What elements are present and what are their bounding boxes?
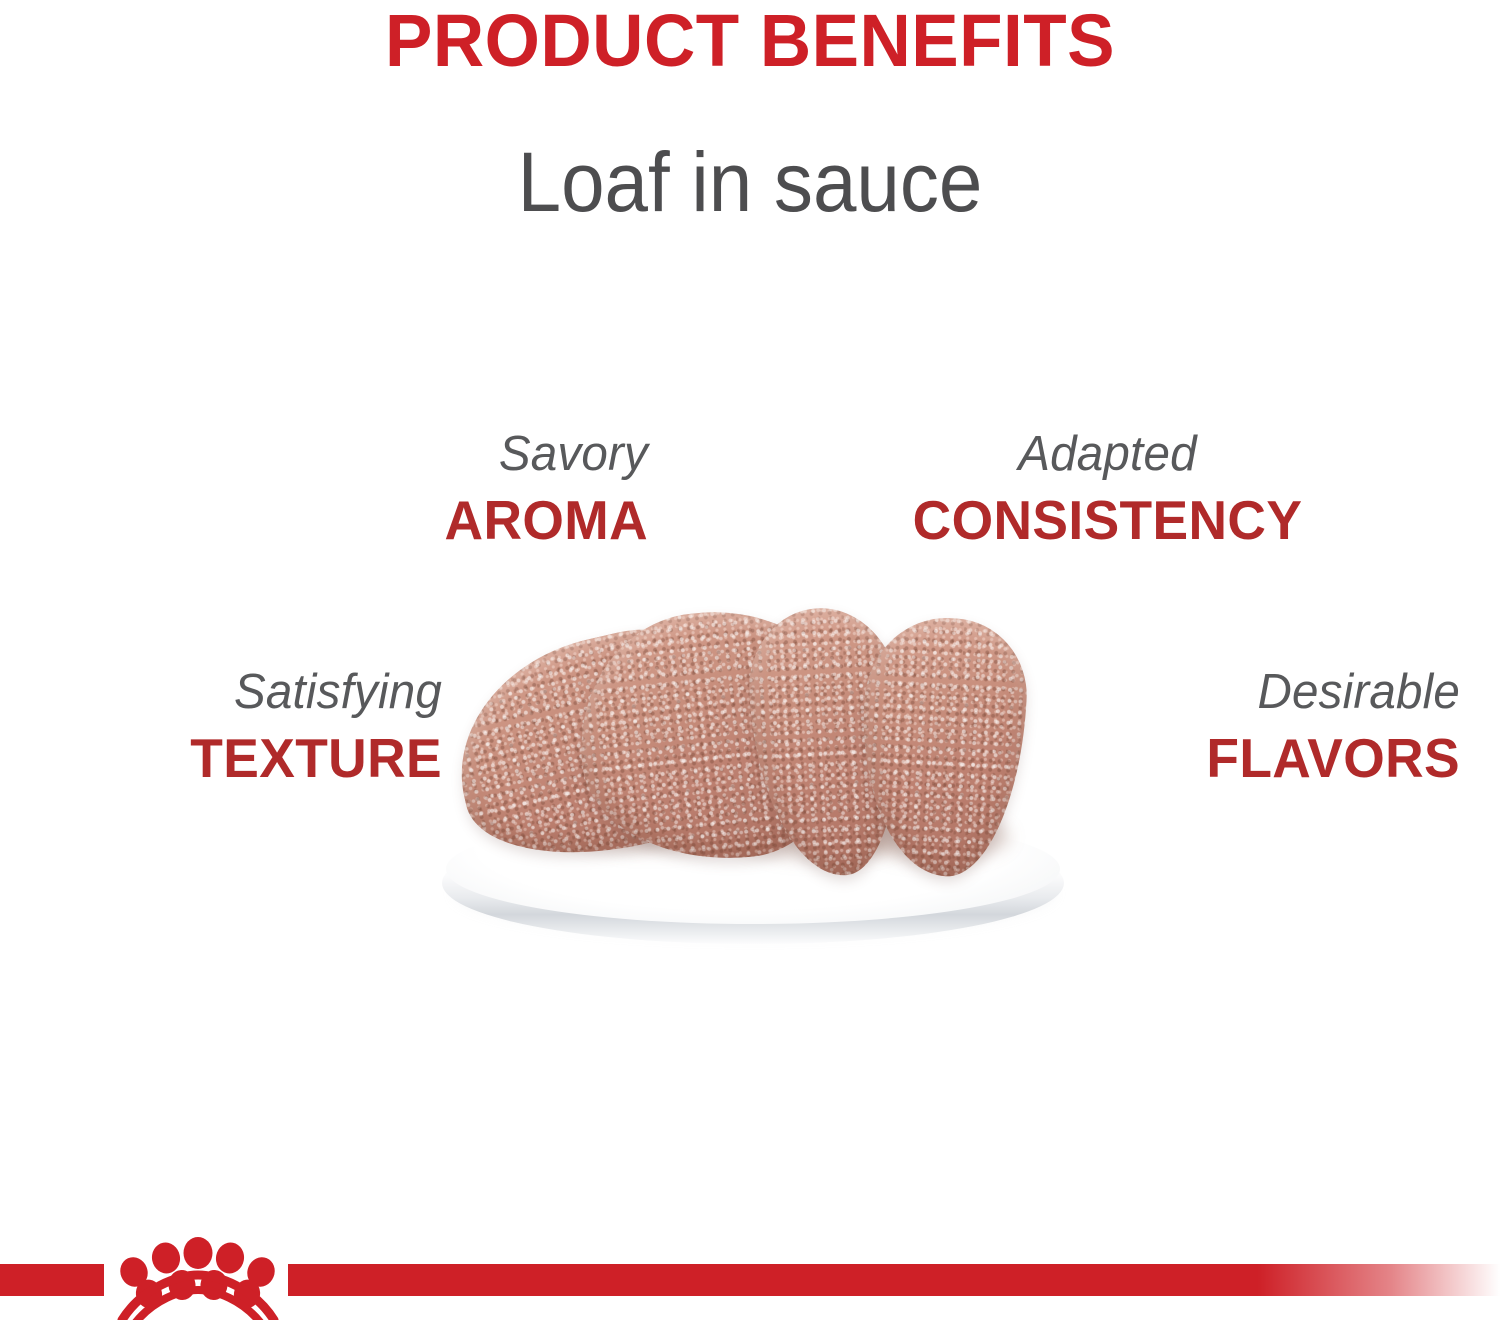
- benefit-aroma-adjective: Savory: [19, 430, 648, 479]
- footer-rule-left: [0, 1264, 104, 1296]
- benefit-texture-adjective: Satisfying: [13, 668, 442, 717]
- page-subtitle: Loaf in sauce: [53, 140, 1448, 224]
- benefit-flavors: Desirable FLAVORS: [1060, 668, 1460, 786]
- benefit-aroma: Savory AROMA: [0, 430, 648, 548]
- footer: [0, 1264, 1500, 1320]
- page-title: PRODUCT BENEFITS: [30, 4, 1470, 78]
- royal-canin-crown-logo: [108, 1228, 284, 1320]
- benefit-consistency: Adapted CONSISTENCY: [880, 430, 1335, 548]
- benefit-aroma-noun: AROMA: [19, 493, 648, 548]
- benefit-texture: Satisfying TEXTURE: [0, 668, 442, 786]
- footer-rule-right: [288, 1264, 1500, 1296]
- benefit-flavors-noun: FLAVORS: [1072, 731, 1460, 786]
- product-benefits-panel: PRODUCT BENEFITS Loaf in sauce Savory AR…: [0, 0, 1500, 1320]
- benefit-consistency-noun: CONSISTENCY: [887, 493, 1328, 548]
- benefit-consistency-adjective: Adapted: [887, 430, 1328, 479]
- benefit-flavors-adjective: Desirable: [1072, 668, 1460, 717]
- product-food-image: [430, 600, 1080, 970]
- benefit-texture-noun: TEXTURE: [13, 731, 442, 786]
